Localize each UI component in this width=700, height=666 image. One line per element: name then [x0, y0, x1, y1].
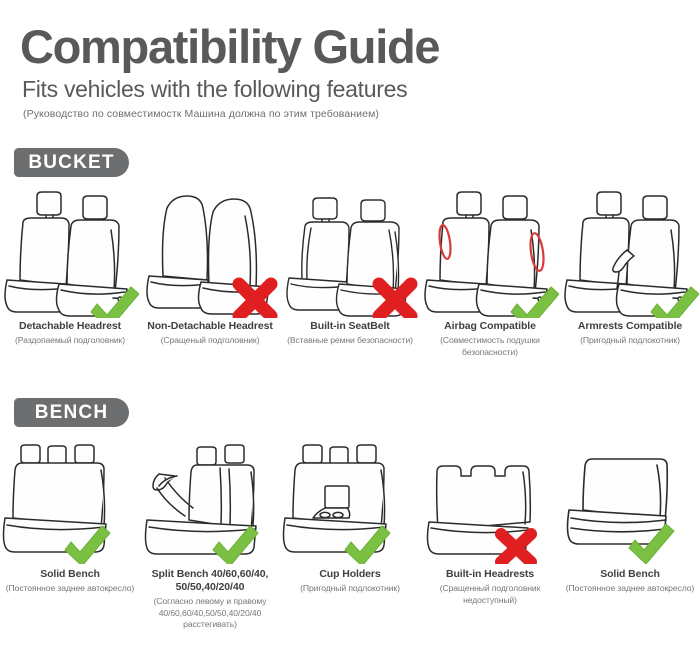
compat-item-labels: Airbag Compatible (Совместимость подушки…	[422, 320, 558, 358]
section-badge-bench-label: BENCH	[35, 402, 109, 424]
page-subtitle-russian: (Руководство по совместимостк Машина дол…	[23, 108, 680, 120]
bucket-armrest-illustration	[561, 186, 699, 318]
green-check-icon	[1, 432, 139, 564]
compat-item-builtin-headrests: Built-in Headrests (Сращенный подголовни…	[420, 432, 560, 631]
green-check-icon	[281, 432, 419, 564]
page-title: Compatibility Guide	[20, 22, 680, 72]
label-en: Airbag Compatible	[422, 320, 558, 333]
label-ru: (Пригодный подлокотник)	[282, 583, 418, 595]
bucket-airbag-illustration	[421, 186, 559, 318]
bench-solid-plain-illustration	[561, 432, 699, 564]
page-header: Compatibility Guide Fits vehicles with t…	[20, 22, 680, 120]
compat-item-labels: Built-in Headrests (Сращенный подголовни…	[422, 568, 558, 606]
compat-item-labels: Cup Holders (Пригодный подлокотник)	[282, 568, 418, 595]
compat-item-labels: Armrests Compatible (Пригодный подлокотн…	[562, 320, 698, 347]
label-en: Armrests Compatible	[562, 320, 698, 333]
label-ru: (Раздопаемый подголовник)	[2, 335, 138, 347]
compat-item-armrests-compatible: Armrests Compatible (Пригодный подлокотн…	[560, 186, 700, 358]
green-check-icon	[561, 432, 699, 564]
label-ru: (Пригодный подлокотник)	[562, 335, 698, 347]
green-check-icon	[421, 186, 559, 318]
page-subtitle: Fits vehicles with the following feature…	[22, 76, 680, 103]
compat-item-detachable-headrest: Detachable Headrest (Раздопаемый подголо…	[0, 186, 140, 358]
green-check-icon	[561, 186, 699, 318]
compat-item-split-bench: Split Bench 40/60,60/40, 50/50,40/20/40 …	[140, 432, 280, 631]
label-en: Cup Holders	[282, 568, 418, 581]
bench-split-illustration	[141, 432, 279, 564]
bench-solid-headrests-illustration	[1, 432, 139, 564]
bucket-detachable-illustration	[1, 186, 139, 318]
label-ru: (Сращенный подголовник недоступный)	[422, 583, 558, 606]
green-check-icon	[141, 432, 279, 564]
label-ru: (Постоянное заднее автокресло)	[2, 583, 138, 595]
label-en: Split Bench 40/60,60/40, 50/50,40/20/40	[142, 568, 278, 594]
compat-item-non-detachable-headrest: Non-Detachable Headrest (Сращеный подгол…	[140, 186, 280, 358]
bench-builtin-headrests-illustration	[421, 432, 559, 564]
bench-seat-row: Solid Bench (Постоянное заднее автокресл…	[0, 432, 700, 631]
compat-item-cup-holders: Cup Holders (Пригодный подлокотник)	[280, 432, 420, 631]
label-en: Built-in Headrests	[422, 568, 558, 581]
bench-cupholder-illustration	[281, 432, 419, 564]
bucket-seatbelt-illustration	[281, 186, 419, 318]
label-en: Non-Detachable Headrest	[142, 320, 278, 333]
section-badge-bucket-label: BUCKET	[28, 152, 114, 174]
red-cross-icon	[421, 432, 559, 564]
compat-item-builtin-seatbelt: Built-in SeatBelt (Вставные ремни безопа…	[280, 186, 420, 358]
compat-item-solid-bench: Solid Bench (Постоянное заднее автокресл…	[0, 432, 140, 631]
compatibility-guide-page: Compatibility Guide Fits vehicles with t…	[0, 0, 700, 666]
compat-item-labels: Solid Bench (Постоянное заднее автокресл…	[562, 568, 698, 595]
label-en: Solid Bench	[2, 568, 138, 581]
red-cross-icon	[281, 186, 419, 318]
label-ru: (Вставные ремни безопасности)	[282, 335, 418, 347]
bucket-seat-row: Detachable Headrest (Раздопаемый подголо…	[0, 186, 700, 358]
compat-item-solid-bench-plain: Solid Bench (Постоянное заднее автокресл…	[560, 432, 700, 631]
green-check-icon	[1, 186, 139, 318]
bucket-nondetachable-illustration	[141, 186, 279, 318]
compat-item-labels: Detachable Headrest (Раздопаемый подголо…	[2, 320, 138, 347]
label-ru: (Постоянное заднее автокресло)	[562, 583, 698, 595]
compat-item-labels: Split Bench 40/60,60/40, 50/50,40/20/40 …	[142, 568, 278, 631]
compat-item-labels: Solid Bench (Постоянное заднее автокресл…	[2, 568, 138, 595]
label-en: Detachable Headrest	[2, 320, 138, 333]
label-ru: (Согласно левому и правому 40/60,60/40,5…	[142, 596, 278, 631]
label-ru: (Сращеный подголовник)	[142, 335, 278, 347]
label-en: Built-in SeatBelt	[282, 320, 418, 333]
label-ru: (Совместимость подушки безопасности)	[422, 335, 558, 358]
compat-item-labels: Non-Detachable Headrest (Сращеный подгол…	[142, 320, 278, 347]
red-cross-icon	[141, 186, 279, 318]
section-badge-bench: BENCH	[14, 398, 129, 427]
compat-item-labels: Built-in SeatBelt (Вставные ремни безопа…	[282, 320, 418, 347]
compat-item-airbag-compatible: Airbag Compatible (Совместимость подушки…	[420, 186, 560, 358]
label-en: Solid Bench	[562, 568, 698, 581]
section-badge-bucket: BUCKET	[14, 148, 129, 177]
